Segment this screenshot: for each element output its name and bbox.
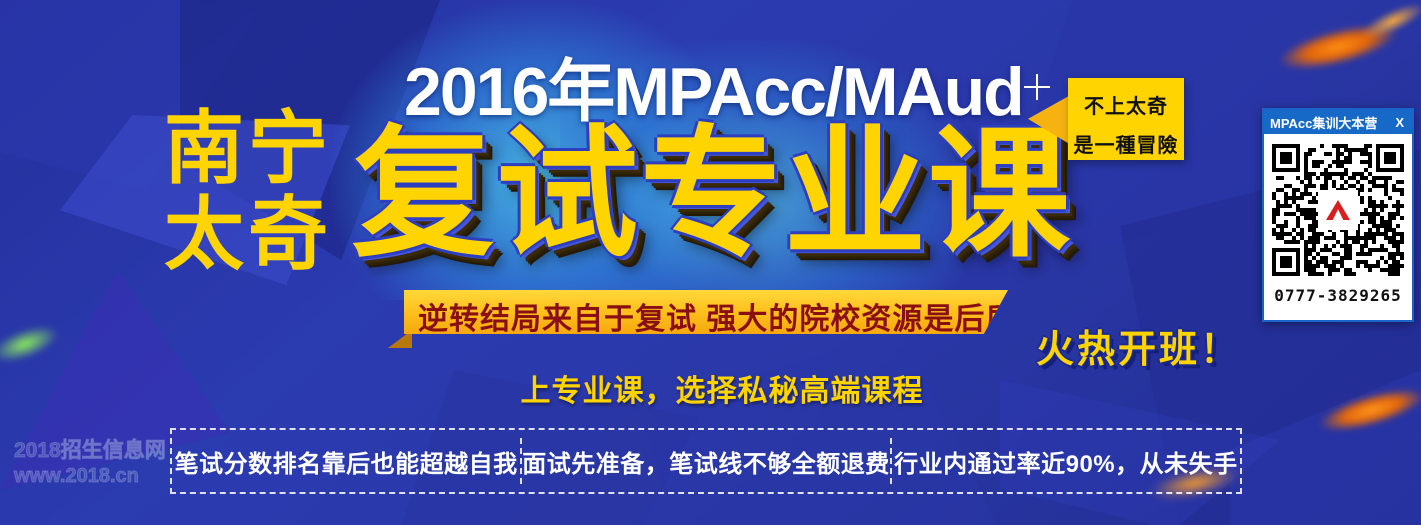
callout-line-2: 是一種冒險 xyxy=(1068,129,1184,158)
background-facet xyxy=(1230,330,1421,525)
close-icon[interactable]: X xyxy=(1393,115,1406,130)
brand-line-1: 南宁 xyxy=(148,110,348,188)
banner-ribbon: 逆转结局来自于复试 强大的院校资源是后盾 xyxy=(404,290,1008,334)
lens-flare-icon xyxy=(0,319,63,369)
qr-code-area xyxy=(1264,134,1412,286)
brand-name: 南宁 太奇 xyxy=(148,110,348,275)
qr-center-logo xyxy=(1321,193,1355,227)
qr-phone-number: 0777-3829265 xyxy=(1264,286,1412,305)
lens-flare-icon xyxy=(1357,0,1421,46)
qr-popup[interactable]: MPAcc集训大本营 X 0777-3829265 xyxy=(1262,108,1414,322)
site-watermark: 2018招生信息网 www.2018.cn xyxy=(14,438,174,489)
feature-item: 面试先准备，笔试线不够全额退费 xyxy=(522,444,890,479)
lens-flare-icon xyxy=(1276,16,1401,78)
ribbon-text: 逆转结局来自于复试 强大的院校资源是后盾 xyxy=(404,290,1008,338)
promo-banner: 南宁 太奇 2016年MPAcc/MAud 复试专业课 逆转结局来自于复试 强大… xyxy=(0,0,1421,525)
callout-line-1: 不上太奇 xyxy=(1068,90,1184,119)
lens-flare-icon xyxy=(1316,381,1421,440)
taiqi-logo-icon xyxy=(1326,200,1350,220)
qr-code-image xyxy=(1272,144,1404,276)
qr-popup-title: MPAcc集训大本营 xyxy=(1270,113,1377,132)
feature-item: 笔试分数排名靠后也能超越自我 xyxy=(172,444,520,479)
qr-popup-header: MPAcc集训大本营 X xyxy=(1264,110,1412,134)
feature-bar: 笔试分数排名靠后也能超越自我 面试先准备，笔试线不够全额退费 行业内通过率近90… xyxy=(170,428,1242,494)
feature-item: 行业内通过率近90%，从未失手 xyxy=(892,444,1240,479)
callout-box: 不上太奇 是一種冒險 xyxy=(1068,78,1184,160)
banner-title: 复试专业课 xyxy=(352,124,1082,266)
banner-subline: 上专业课，选择私秘高端课程 xyxy=(512,366,932,410)
brand-line-2: 太奇 xyxy=(148,196,348,274)
watermark-line-2: www.2018.cn xyxy=(14,464,174,489)
watermark-line-1: 2018招生信息网 xyxy=(14,438,174,464)
hot-badge: 火热开班！ xyxy=(1036,318,1256,373)
